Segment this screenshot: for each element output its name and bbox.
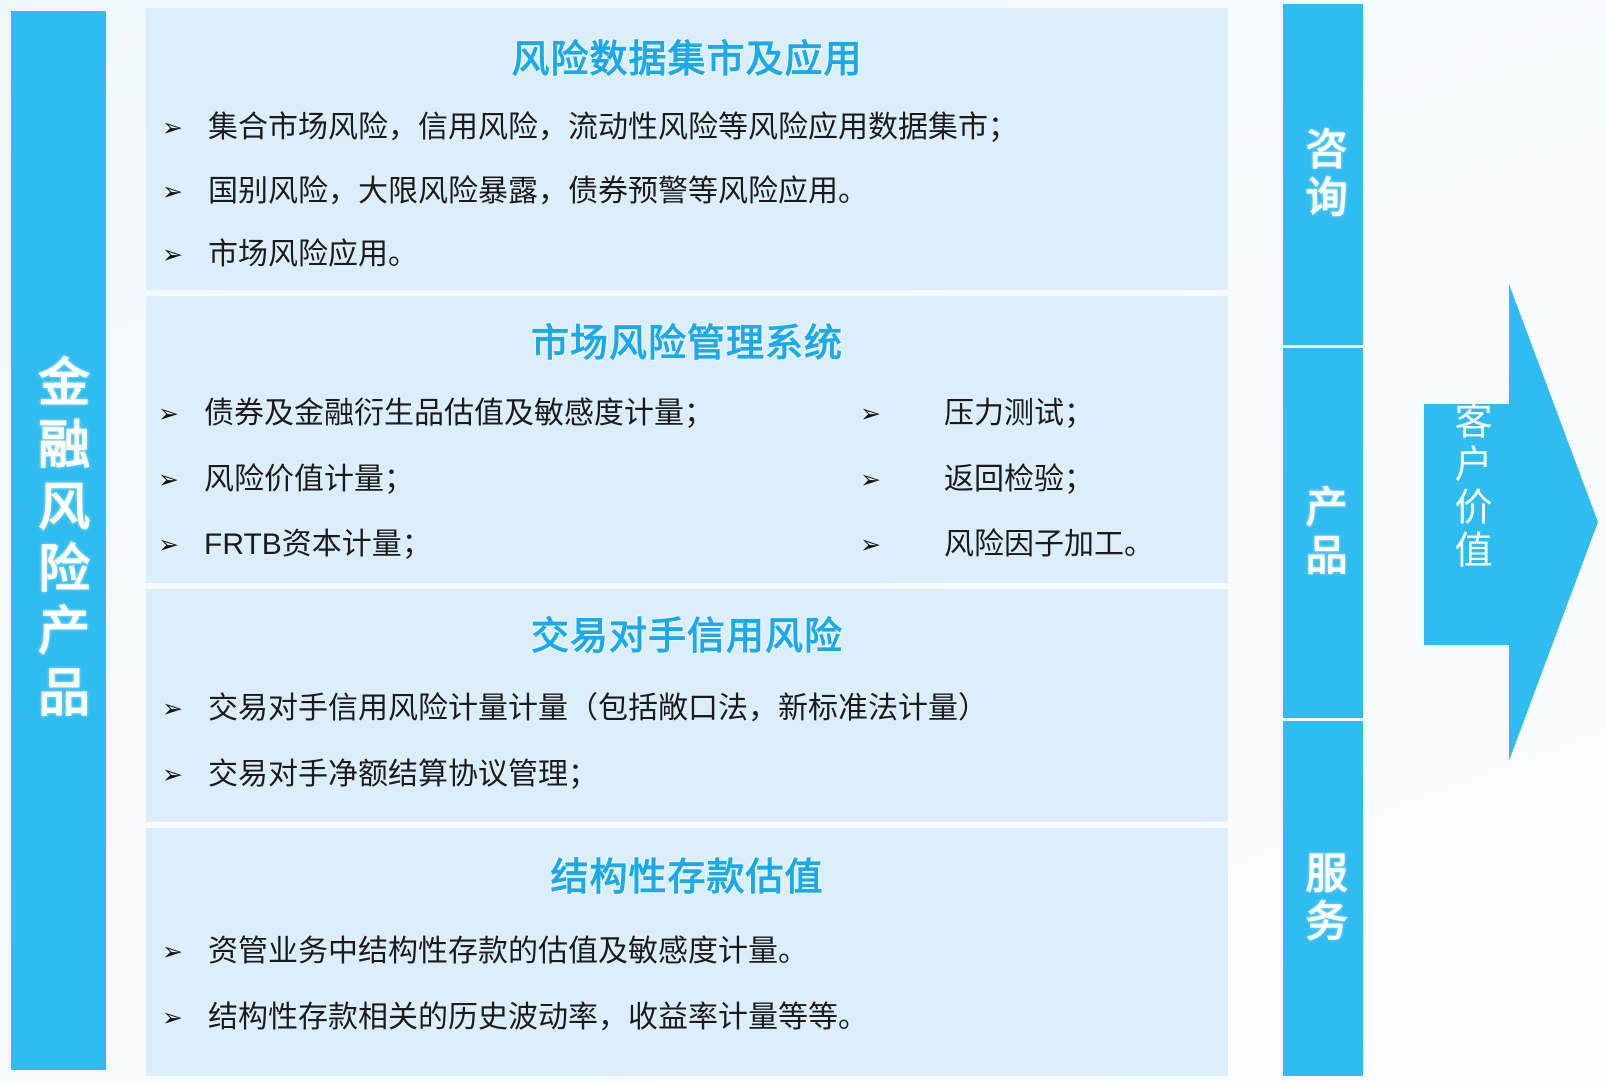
list-item: ➢ 风险价值计量； bbox=[158, 461, 860, 499]
list-item-text: FRTB资本计量； bbox=[204, 526, 432, 564]
arrow-bullet-icon: ➢ bbox=[162, 115, 208, 140]
bullet-list: ➢ 交易对手信用风险计量计量（包括敞口法，新标准法计量） ➢ 交易对手净额结算协… bbox=[146, 690, 1228, 793]
list-item-row: ➢ 风险价值计量； ➢ 返回检验； bbox=[152, 461, 1228, 499]
list-item: ➢ 压力测试； bbox=[860, 395, 1220, 433]
list-item-text: 风险价值计量； bbox=[204, 461, 414, 499]
arrow-bullet-icon: ➢ bbox=[158, 401, 204, 426]
list-item: ➢ 集合市场风险，信用风险，流动性风险等风险应用数据集市； bbox=[152, 109, 1228, 147]
arrow-bullet-icon: ➢ bbox=[860, 401, 944, 426]
section-counterparty-credit-risk: 交易对手信用风险 ➢ 交易对手信用风险计量计量（包括敞口法，新标准法计量） ➢ … bbox=[146, 589, 1228, 822]
list-item-text: 结构性存款相关的历史波动率，收益率计量等等。 bbox=[208, 999, 868, 1037]
arrow-bullet-icon: ➢ bbox=[860, 467, 944, 492]
arrow-bullet-icon: ➢ bbox=[162, 1005, 208, 1030]
section-title: 市场风险管理系统 bbox=[146, 312, 1228, 367]
stage-block-service: 服务 bbox=[1283, 721, 1363, 1076]
list-item-text: 国别风险，大限风险暴露，债券预警等风险应用。 bbox=[208, 173, 868, 211]
section-title: 风险数据集市及应用 bbox=[146, 28, 1228, 83]
stage-block-product: 产品 bbox=[1283, 348, 1363, 718]
list-item-text: 返回检验； bbox=[944, 461, 1094, 499]
list-item: ➢ 风险因子加工。 bbox=[860, 526, 1220, 564]
section-title: 交易对手信用风险 bbox=[146, 605, 1228, 660]
left-category-bar: 金融风险产品 bbox=[11, 11, 106, 1070]
stage-block-consulting: 咨询 bbox=[1283, 4, 1363, 345]
list-item: ➢ 债券及金融衍生品估值及敏感度计量； bbox=[158, 395, 860, 433]
arrow-bullet-icon: ➢ bbox=[158, 467, 204, 492]
right-arrow-icon bbox=[1408, 275, 1607, 770]
arrow-bullet-icon: ➢ bbox=[162, 242, 208, 267]
arrow-bullet-icon: ➢ bbox=[162, 179, 208, 204]
list-item: ➢ 市场风险应用。 bbox=[152, 236, 1228, 274]
list-item-text: 债券及金融衍生品估值及敏感度计量； bbox=[204, 395, 714, 433]
section-market-risk-system: 市场风险管理系统 ➢ 债券及金融衍生品估值及敏感度计量； ➢ 压力测试； ➢ 风… bbox=[146, 296, 1228, 583]
arrow-bullet-icon: ➢ bbox=[162, 762, 208, 787]
arrow-bullet-icon: ➢ bbox=[860, 532, 944, 557]
arrow-bullet-icon: ➢ bbox=[158, 532, 204, 557]
list-item-text: 交易对手净额结算协议管理； bbox=[208, 756, 598, 794]
list-item-row: ➢ FRTB资本计量； ➢ 风险因子加工。 bbox=[152, 526, 1228, 564]
left-category-label: 金融风险产品 bbox=[30, 355, 86, 727]
list-item-text: 交易对手信用风险计量计量（包括敞口法，新标准法计量） bbox=[208, 690, 988, 728]
list-item-text: 压力测试； bbox=[944, 395, 1094, 433]
arrow-bullet-icon: ➢ bbox=[162, 939, 208, 964]
stage-label: 服务 bbox=[1300, 851, 1346, 947]
content-panel: 风险数据集市及应用 ➢ 集合市场风险，信用风险，流动性风险等风险应用数据集市； … bbox=[146, 4, 1228, 1076]
list-item: ➢ 交易对手净额结算协议管理； bbox=[152, 756, 1228, 794]
bullet-list: ➢ 债券及金融衍生品估值及敏感度计量； ➢ 压力测试； ➢ 风险价值计量； ➢ … bbox=[146, 395, 1228, 564]
stage-column: 咨询 产品 服务 bbox=[1283, 4, 1363, 1076]
section-structured-deposit-valuation: 结构性存款估值 ➢ 资管业务中结构性存款的估值及敏感度计量。 ➢ 结构性存款相关… bbox=[146, 828, 1228, 1076]
list-item: ➢ 交易对手信用风险计量计量（包括敞口法，新标准法计量） bbox=[152, 690, 1228, 728]
stage-label: 产品 bbox=[1300, 485, 1346, 581]
stage-label: 咨询 bbox=[1300, 127, 1346, 223]
customer-value-arrow: 客户价值 bbox=[1408, 275, 1607, 770]
list-item-text: 资管业务中结构性存款的估值及敏感度计量。 bbox=[208, 933, 808, 971]
section-risk-data-mart: 风险数据集市及应用 ➢ 集合市场风险，信用风险，流动性风险等风险应用数据集市； … bbox=[146, 8, 1228, 290]
list-item-text: 风险因子加工。 bbox=[944, 526, 1154, 564]
list-item: ➢ 国别风险，大限风险暴露，债券预警等风险应用。 bbox=[152, 173, 1228, 211]
list-item: ➢ 返回检验； bbox=[860, 461, 1220, 499]
list-item-text: 市场风险应用。 bbox=[208, 236, 418, 274]
section-title: 结构性存款估值 bbox=[146, 846, 1228, 901]
bullet-list: ➢ 资管业务中结构性存款的估值及敏感度计量。 ➢ 结构性存款相关的历史波动率，收… bbox=[146, 933, 1228, 1036]
list-item: ➢ FRTB资本计量； bbox=[158, 526, 860, 564]
bullet-list: ➢ 集合市场风险，信用风险，流动性风险等风险应用数据集市； ➢ 国别风险，大限风… bbox=[146, 109, 1228, 274]
arrow-bullet-icon: ➢ bbox=[162, 696, 208, 721]
list-item: ➢ 资管业务中结构性存款的估值及敏感度计量。 bbox=[152, 933, 1228, 971]
list-item-row: ➢ 债券及金融衍生品估值及敏感度计量； ➢ 压力测试； bbox=[152, 395, 1228, 433]
list-item: ➢ 结构性存款相关的历史波动率，收益率计量等等。 bbox=[152, 999, 1228, 1037]
list-item-text: 集合市场风险，信用风险，流动性风险等风险应用数据集市； bbox=[208, 109, 1018, 147]
